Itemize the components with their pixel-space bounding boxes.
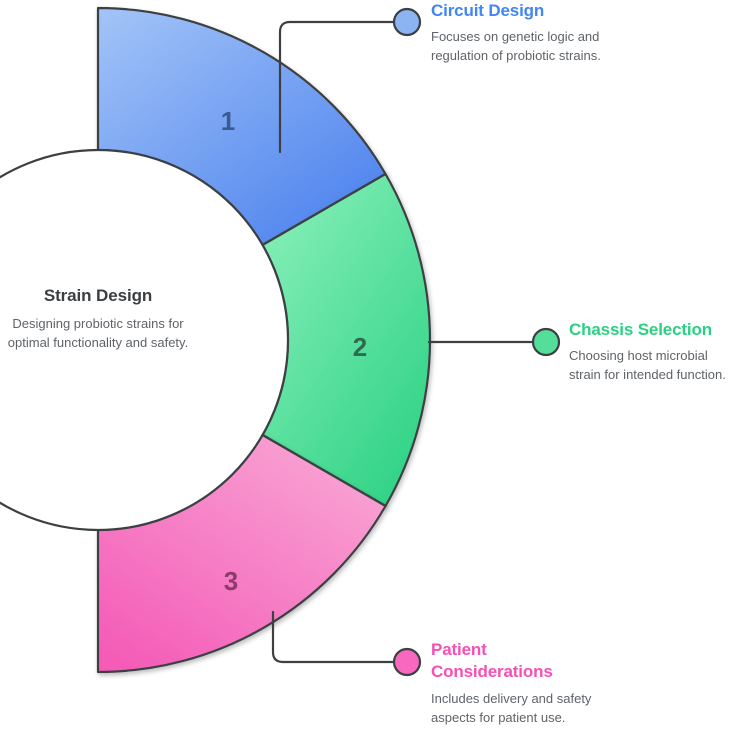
callout-3-description: Includes delivery and safety aspects for… xyxy=(431,690,731,728)
connector-dot-1[interactable] xyxy=(394,9,420,35)
connector-dot-3[interactable] xyxy=(394,649,420,675)
callout-1-description: Focuses on genetic logic and regulation … xyxy=(431,28,731,66)
callout-3-title: Patient Considerations xyxy=(431,639,581,684)
callout-patient-considerations[interactable]: Patient Considerations Includes delivery… xyxy=(431,639,731,728)
diagram-canvas: 1 2 3 Strain Design Designing probiotic … xyxy=(0,0,750,735)
segment-2-number: 2 xyxy=(353,332,367,362)
hub-text-block: Strain Design Designing probiotic strain… xyxy=(0,286,258,353)
callout-2-description: Choosing host microbial strain for inten… xyxy=(569,347,750,385)
callout-chassis-selection[interactable]: Chassis Selection Choosing host microbia… xyxy=(569,319,750,385)
connector-dot-2[interactable] xyxy=(533,329,559,355)
hub-title: Strain Design xyxy=(0,286,258,306)
connector-line-3 xyxy=(273,612,394,662)
hub-description: Designing probiotic strains for optimal … xyxy=(0,315,258,353)
segment-3-number: 3 xyxy=(224,566,238,596)
callout-circuit-design[interactable]: Circuit Design Focuses on genetic logic … xyxy=(431,0,731,66)
callout-1-title: Circuit Design xyxy=(431,0,731,22)
callout-2-title: Chassis Selection xyxy=(569,319,750,341)
segment-1-number: 1 xyxy=(221,106,235,136)
